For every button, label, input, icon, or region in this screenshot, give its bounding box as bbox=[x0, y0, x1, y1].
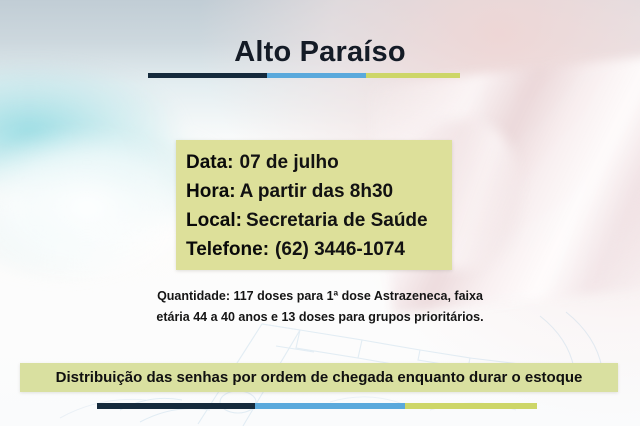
detail-value-data: 07 de julho bbox=[240, 148, 339, 177]
dose-quantity-line-2: etária 44 a 40 anos e 13 doses para grup… bbox=[70, 307, 570, 328]
vaccination-announcement-poster: Alto Paraíso Data: 07 de julho Hora: A p… bbox=[0, 0, 640, 426]
distribution-banner: Distribuição das senhas por ordem de che… bbox=[20, 363, 618, 392]
detail-value-hora: A partir das 8h30 bbox=[240, 177, 393, 206]
detail-row-hora: Hora: A partir das 8h30 bbox=[186, 177, 452, 206]
dose-quantity-line-1: Quantidade: 117 doses para 1ª dose Astra… bbox=[70, 286, 570, 307]
dose-quantity-note: Quantidade: 117 doses para 1ª dose Astra… bbox=[70, 286, 570, 328]
detail-label-data: Data: bbox=[186, 148, 234, 177]
detail-row-telefone: Telefone: (62) 3446-1074 bbox=[186, 235, 452, 264]
page-title: Alto Paraíso bbox=[0, 36, 640, 69]
detail-label-local: Local: bbox=[186, 206, 242, 235]
accent-segment-blue bbox=[267, 73, 367, 78]
detail-row-local: Local: Secretaria de Saúde bbox=[186, 206, 452, 235]
accent-segment-green bbox=[366, 73, 460, 78]
detail-row-data: Data: 07 de julho bbox=[186, 148, 452, 177]
accent-rule-bottom bbox=[97, 403, 537, 409]
detail-value-local: Secretaria de Saúde bbox=[246, 206, 428, 235]
accent-segment-blue bbox=[255, 403, 405, 409]
accent-segment-green bbox=[405, 403, 537, 409]
accent-rule-top bbox=[148, 73, 460, 78]
detail-label-hora: Hora: bbox=[186, 177, 236, 206]
event-details-panel: Data: 07 de julho Hora: A partir das 8h3… bbox=[176, 140, 452, 270]
accent-segment-dark bbox=[148, 73, 267, 78]
accent-segment-dark bbox=[97, 403, 255, 409]
detail-value-telefone: (62) 3446-1074 bbox=[275, 235, 405, 264]
detail-label-telefone: Telefone: bbox=[186, 235, 269, 264]
